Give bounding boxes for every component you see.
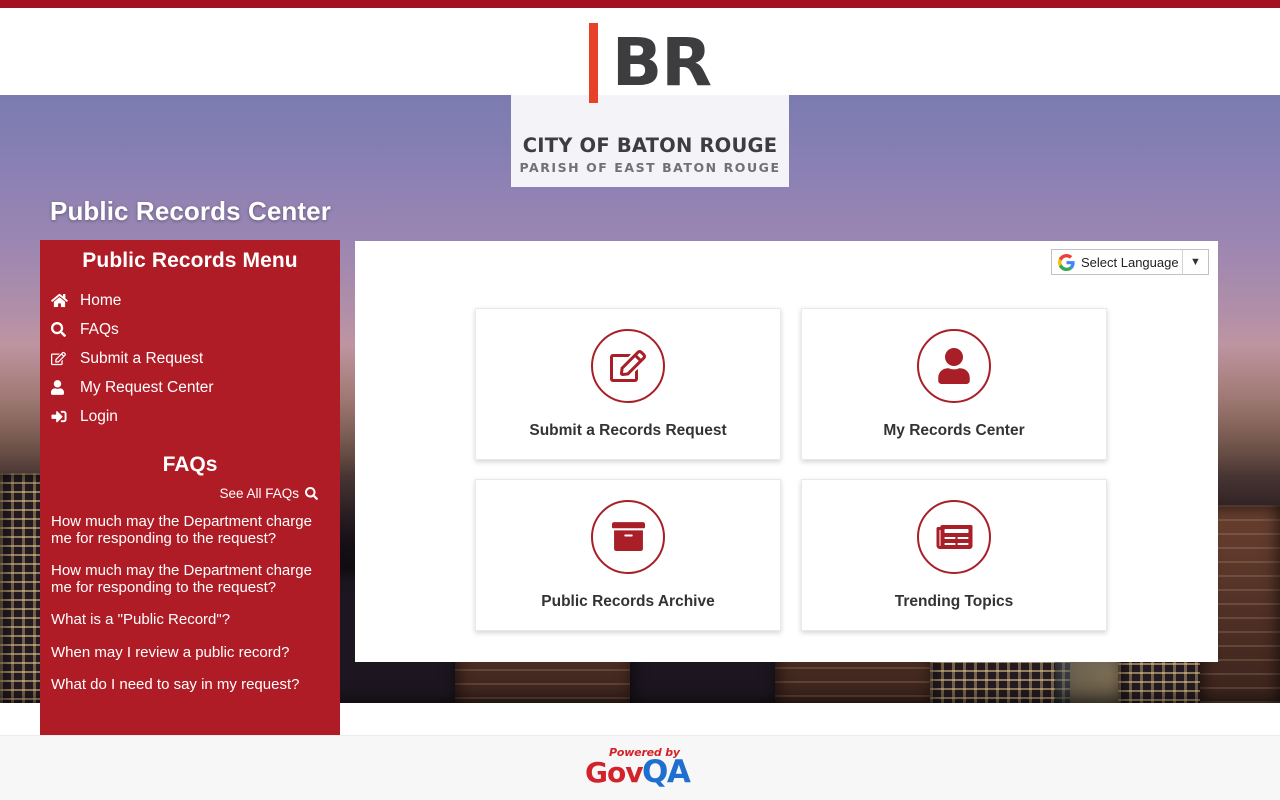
logo-city-line: CITY OF BATON ROUGE [511,134,789,157]
govqa-logo[interactable]: Powered by Gov QA [585,745,695,791]
main-content-panel: Submit a Records Request My Records Cent… [355,241,1218,662]
sidebar-item-label: FAQs [80,321,119,339]
tile-label: My Records Center [883,422,1024,440]
faq-list-item[interactable]: How much may the Department charge me fo… [51,563,329,596]
sign-in-icon [51,409,73,424]
tile-label: Trending Topics [895,593,1014,611]
tile-my-records-center[interactable]: My Records Center [801,308,1107,460]
sidebar-item-submit-a-request[interactable]: Submit a Request [40,344,340,373]
quick-link-tiles: Submit a Records Request My Records Cent… [475,308,1107,650]
logo-initials: BR [612,30,711,96]
archive-box-icon [591,500,665,574]
page-root: BR CITY OF BATON ROUGE PARISH OF EAST BA… [0,0,1280,800]
sidebar-item-faqs[interactable]: FAQs [40,315,340,344]
search-icon [51,322,73,337]
home-icon [51,293,73,308]
page-title: Public Records Center [50,196,331,227]
tile-trending-topics[interactable]: Trending Topics [801,479,1107,631]
top-accent-bar [0,0,1280,8]
user-icon [917,329,991,403]
pen-square-icon [51,351,73,366]
sidebar-item-label: My Request Center [80,379,214,397]
see-all-faqs-label: See All FAQs [219,486,299,501]
tile-label: Submit a Records Request [529,422,726,440]
faq-list-item[interactable]: How much may the Department charge me fo… [51,514,329,547]
sidebar-item-my-request-center[interactable]: My Request Center [40,373,340,402]
tile-row: Public Records Archive Trending Topics [475,479,1107,631]
sidebar-title: Public Records Menu [40,249,340,273]
faq-list-item[interactable]: What is a "Public Record"? [51,612,329,629]
tile-label: Public Records Archive [541,593,714,611]
tile-row: Submit a Records Request My Records Cent… [475,308,1107,460]
page-footer: Powered by Gov QA [0,735,1280,800]
tile-submit-a-records-request[interactable]: Submit a Records Request [475,308,781,460]
sidebar-item-login[interactable]: Login [40,402,340,431]
sidebar-item-label: Submit a Request [80,350,203,368]
newspaper-icon [917,500,991,574]
tile-public-records-archive[interactable]: Public Records Archive [475,479,781,631]
logo-parish-line: PARISH OF EAST BATON ROUGE [511,160,789,175]
logo-accent-bar [589,23,598,103]
faq-list-item[interactable]: When may I review a public record? [51,645,329,662]
sidebar-item-label: Home [80,292,121,310]
govqa-qa-text: QA [642,757,689,788]
language-selector[interactable]: Select Language ▼ [1051,249,1209,275]
pen-square-icon [591,329,665,403]
public-records-sidebar: Public Records Menu Home FAQs Submit a R… [40,240,340,735]
search-icon [305,487,318,500]
sidebar-item-label: Login [80,408,118,426]
google-g-icon [1058,254,1075,271]
user-icon [51,380,73,395]
faq-list: How much may the Department charge me fo… [40,514,340,694]
sidebar-item-home[interactable]: Home [40,286,340,315]
sidebar-menu: Home FAQs Submit a Request My Request Ce… [40,286,340,431]
govqa-gov-text: Gov [585,759,642,787]
see-all-faqs-link[interactable]: See All FAQs [40,486,340,501]
br-logo[interactable]: BR [511,22,789,104]
language-selector-label: Select Language [1081,255,1182,270]
faq-section-heading: FAQs [40,453,340,477]
faq-list-item[interactable]: What do I need to say in my request? [51,677,329,694]
chevron-down-icon[interactable]: ▼ [1182,250,1208,274]
